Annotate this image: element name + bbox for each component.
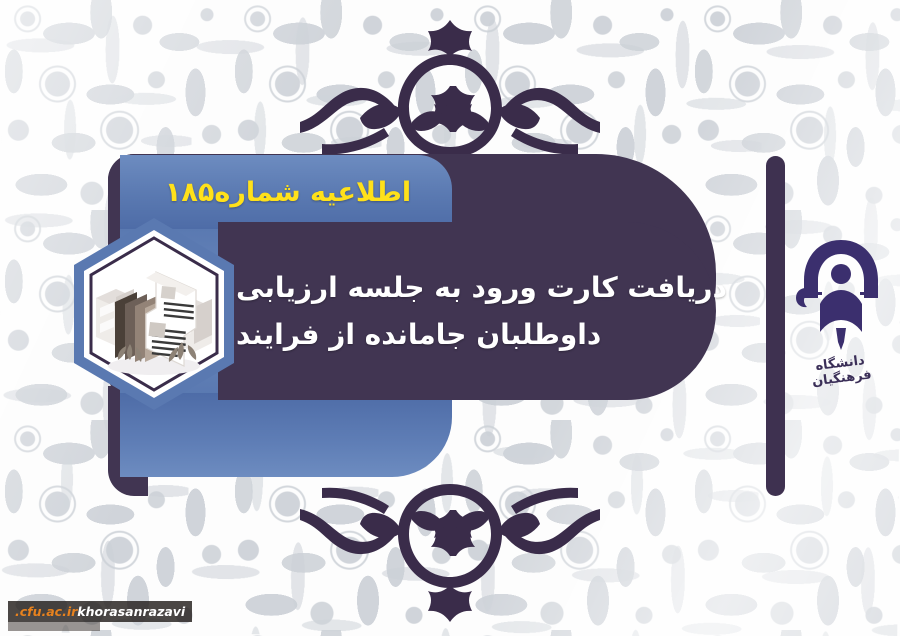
university-name-label: دانشگاه فرهنگیان (791, 350, 892, 392)
persian-ornament-icon (300, 478, 600, 628)
watermark-domain: khorasanrazavi (77, 604, 185, 619)
vertical-divider-bar (766, 156, 785, 496)
documents-hexagon-icon (70, 216, 238, 412)
announcement-number-title: اطلاعیه شماره۱۸۵ (130, 160, 446, 224)
site-watermark: khorasanrazavi .cfu.ac.ir (8, 601, 192, 622)
headline-line-1: دریافت کارت ورود به جلسه ارزیابی (236, 270, 727, 305)
watermark-tld: .cfu.ac.ir (15, 604, 77, 619)
persian-ornament-icon (300, 14, 600, 164)
watermark-shadow-bar (8, 622, 100, 631)
headline-line-2: داوطلبان جامانده از فرایند (236, 317, 601, 352)
headline-block: دریافت کارت ورود به جلسه ارزیابی داوطلبا… (236, 236, 706, 386)
farhangian-university-logo-icon: دانشگاه فرهنگیان (792, 236, 890, 396)
poster-canvas: اطلاعیه شماره۱۸۵ دریافت کارت ورود به جلس… (0, 0, 900, 636)
